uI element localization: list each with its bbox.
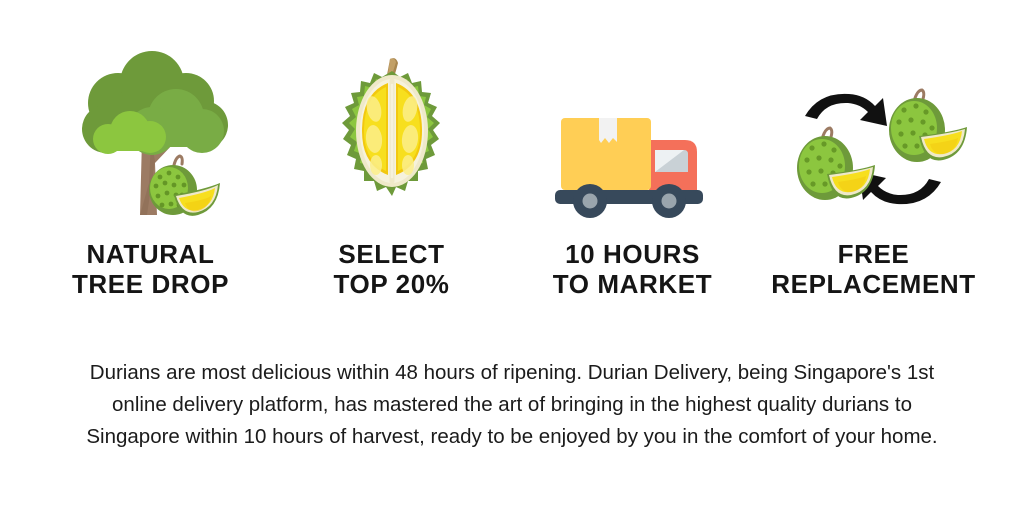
- durian-tree-icon: [56, 38, 246, 223]
- feature-title: FREE REPLACEMENT: [771, 239, 976, 300]
- feature-select-top-20[interactable]: SELECT TOP 20%: [271, 30, 512, 300]
- truck-cargo-box: [561, 118, 651, 190]
- truck-cab: [649, 140, 697, 190]
- durian-top-right: [889, 90, 967, 162]
- feature-title: NATURAL TREE DROP: [72, 239, 229, 300]
- feature-title: SELECT TOP 20%: [334, 239, 450, 300]
- feature-10-hours-to-market[interactable]: 10 HOURS TO MARKET: [512, 30, 753, 300]
- durian-replacement-cycle-icon: [769, 38, 979, 223]
- durian-bottom-left: [797, 128, 875, 200]
- durian-flesh-lobes: [362, 81, 422, 181]
- feature-natural-tree-drop[interactable]: NATURAL TREE DROP: [30, 30, 271, 300]
- cycle-arrow-top: [805, 94, 887, 126]
- feature-free-replacement[interactable]: FREE REPLACEMENT: [753, 30, 994, 300]
- feature-title: 10 HOURS TO MARKET: [553, 239, 712, 300]
- delivery-truck-icon: [545, 38, 720, 223]
- description-paragraph: Durians are most delicious within 48 hou…: [72, 357, 952, 454]
- feature-row: NATURAL TREE DROP: [0, 0, 1024, 300]
- promo-banner: NATURAL TREE DROP: [0, 0, 1024, 512]
- durian-cross-section-icon: [322, 38, 462, 223]
